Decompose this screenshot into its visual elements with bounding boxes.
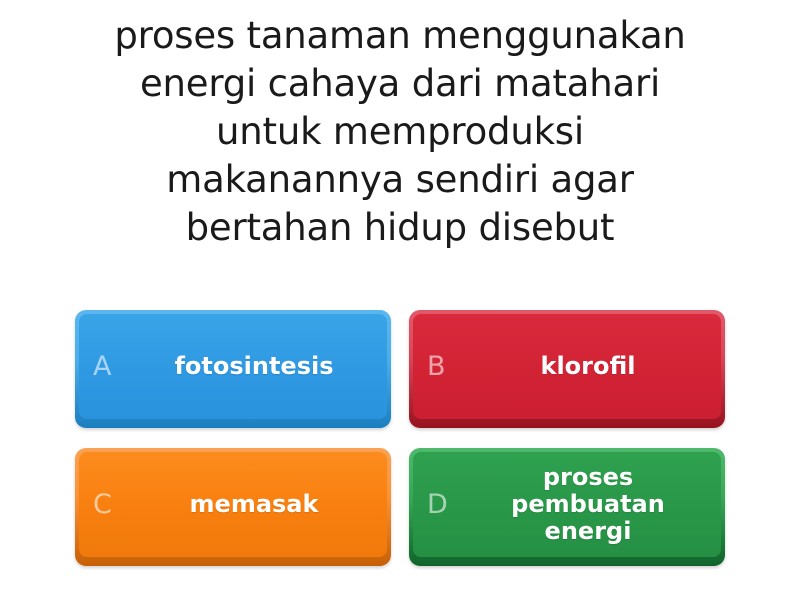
question-area: proses tanaman menggunakan energi cahaya… [0, 12, 800, 292]
answer-option-c-face: C memasak [79, 452, 387, 557]
answer-label-d: proses pembuatan energi [471, 464, 711, 545]
question-text: proses tanaman menggunakan energi cahaya… [50, 12, 750, 252]
answer-option-a-face: A fotosintesis [79, 314, 387, 419]
quiz-screen: proses tanaman menggunakan energi cahaya… [0, 0, 800, 600]
answer-letter-b: B [427, 353, 471, 380]
answer-option-d-face: D proses pembuatan energi [413, 452, 721, 557]
answer-options-grid: A fotosintesis B klorofil C memasak D pr… [75, 310, 725, 566]
answer-label-b: klorofil [471, 353, 711, 380]
answer-letter-c: C [93, 491, 137, 518]
answer-label-a: fotosintesis [137, 353, 377, 380]
answer-option-a[interactable]: A fotosintesis [75, 310, 391, 428]
answer-letter-a: A [93, 353, 137, 380]
answer-letter-d: D [427, 491, 471, 518]
answer-option-b-face: B klorofil [413, 314, 721, 419]
answer-option-b[interactable]: B klorofil [409, 310, 725, 428]
answer-label-c: memasak [137, 491, 377, 518]
answer-option-d[interactable]: D proses pembuatan energi [409, 448, 725, 566]
answer-option-c[interactable]: C memasak [75, 448, 391, 566]
